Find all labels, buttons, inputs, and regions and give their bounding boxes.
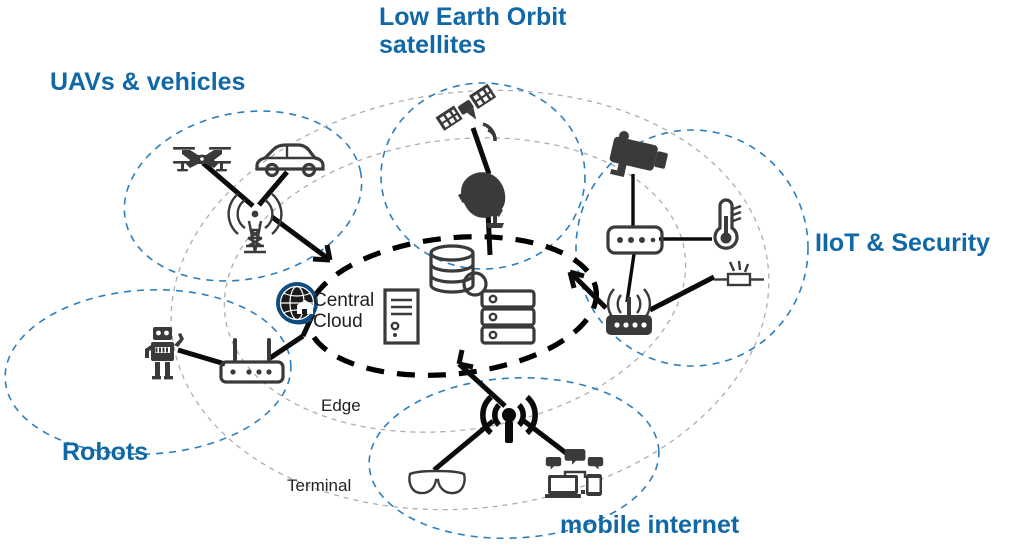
drone-icon	[173, 147, 231, 171]
layer-label-central-cloud: Central Cloud	[313, 290, 374, 333]
smart-glasses-icon	[409, 471, 464, 493]
network-switch-icon	[608, 227, 662, 253]
cell-tower-icon	[229, 194, 282, 252]
link-dish-to-core	[488, 211, 490, 255]
network-architecture-diagram: .blue-dash{fill:none;stroke:#2E7EBB;stro…	[0, 0, 1035, 552]
link-router-to-core	[570, 272, 606, 308]
cluster-label-uav: UAVs & vehicles	[50, 68, 245, 96]
home-router-icon	[221, 338, 283, 382]
cluster-label-robots: Robots	[62, 438, 148, 466]
satellite-dish-icon	[453, 166, 511, 228]
terminal-layer-ellipse	[147, 57, 793, 543]
layer-label-central-cloud-line2: Cloud	[313, 311, 374, 332]
link-switch-to-router	[627, 254, 634, 302]
layer-label-central-cloud-line1: Central	[313, 290, 374, 311]
layer-label-edge: Edge	[321, 396, 361, 416]
link-core-to-antenna	[459, 350, 505, 406]
security-camera-icon	[606, 129, 671, 185]
cluster-label-mobile-internet: mobile internet	[560, 511, 739, 539]
link-drone-to-tower	[203, 163, 253, 206]
link-router-to-sensor	[650, 277, 714, 310]
wireless-sensor-icon	[714, 261, 764, 285]
link-robot-to-homerouter	[178, 350, 225, 364]
server-tower-icon	[385, 290, 418, 343]
devices-chat-icon	[545, 449, 603, 498]
layer-label-terminal: Terminal	[287, 476, 351, 496]
cluster-label-iiot: IIoT & Security	[815, 229, 990, 257]
database-icon	[431, 246, 486, 295]
server-rack-icon	[482, 291, 534, 343]
thermometer-icon	[715, 200, 741, 248]
globe-cloud-icon	[276, 282, 318, 324]
satellite-icon	[435, 84, 500, 141]
cluster-label-leo: Low Earth Orbit satellites	[379, 3, 629, 59]
link-satellite-to-dish	[473, 128, 489, 174]
robot-icon	[145, 327, 184, 379]
